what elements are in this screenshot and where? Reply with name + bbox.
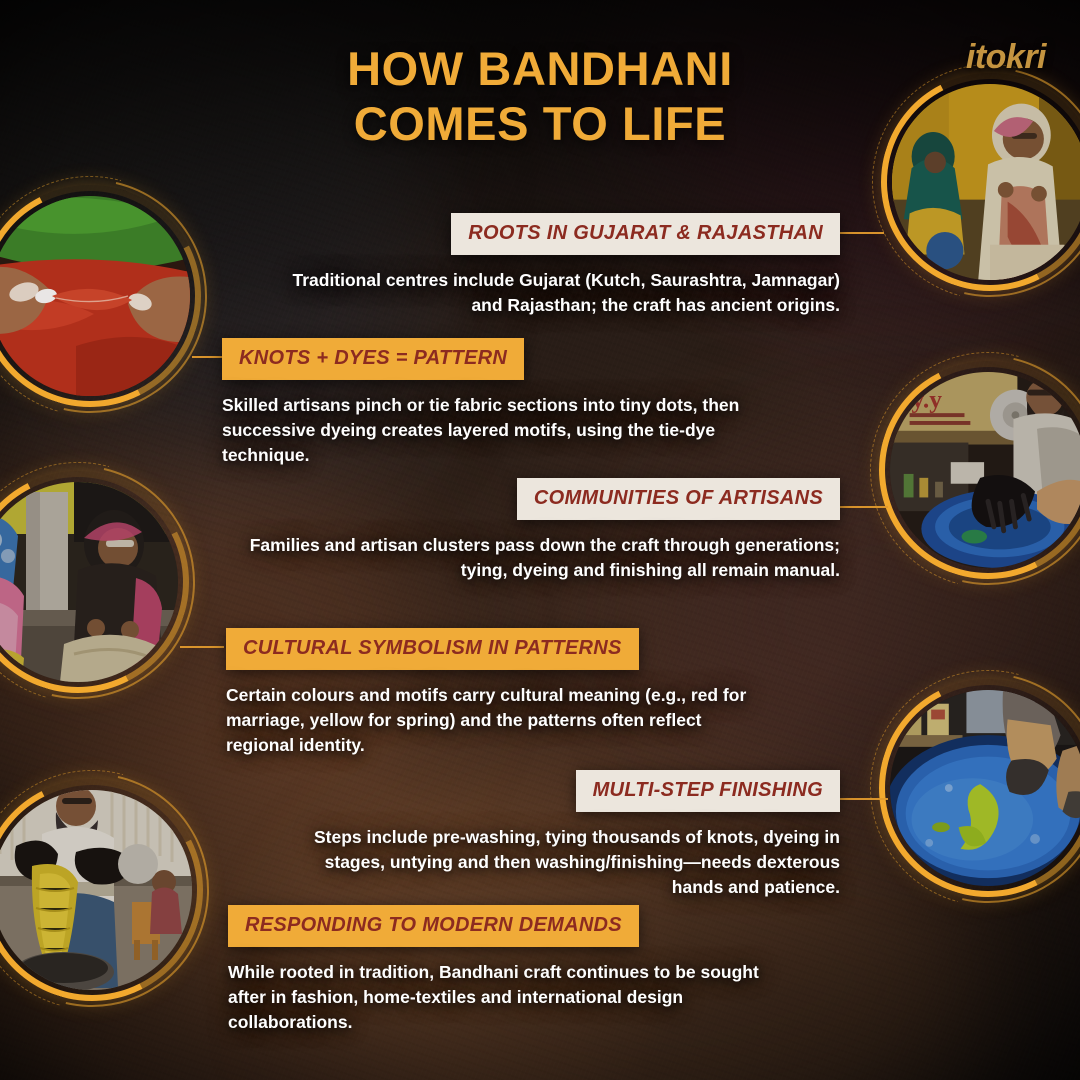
section-body-text: Skilled artisans pinch or tie fabric sec…: [222, 393, 752, 468]
section-roots-in-gujarat-and-rajasthan: ROOTS IN GUJARAT & RAJASTHAN Traditional…: [270, 213, 840, 318]
section-heading-banner[interactable]: MULTI-STEP FINISHING: [576, 770, 840, 812]
section-cultural-symbolism-in-patterns: CULTURAL SYMBOLISM IN PATTERNS Certain c…: [226, 628, 766, 758]
section-heading-banner[interactable]: RESPONDING TO MODERN DEMANDS: [228, 905, 639, 947]
connector-line: [180, 646, 224, 648]
two-women-tying-bandhani-photo: [892, 84, 1080, 280]
section-heading-banner[interactable]: KNOTS + DYES = PATTERN: [222, 338, 524, 380]
fabric-dipped-in-blue-dye-photo: [890, 690, 1080, 886]
section-body-text: Steps include pre-washing, tying thousan…: [300, 825, 840, 900]
section-body-text: Families and artisan clusters pass down …: [240, 533, 840, 583]
section-responding-to-modern-demands: RESPONDING TO MODERN DEMANDS While roote…: [228, 905, 788, 1035]
section-knots-dyes-pattern: KNOTS + DYES = PATTERN Skilled artisans …: [222, 338, 752, 468]
section-heading-banner[interactable]: CULTURAL SYMBOLISM IN PATTERNS: [226, 628, 639, 670]
artisan-dyeing-in-blue-tub-photo: y.y: [890, 372, 1080, 568]
hands-tying-red-fabric-photo: [0, 196, 190, 396]
section-heading-banner[interactable]: ROOTS IN GUJARAT & RAJASTHAN: [451, 213, 840, 255]
dyer-lifting-yellow-fabric-photo: [0, 790, 192, 990]
section-body-text: While rooted in tradition, Bandhani craf…: [228, 960, 788, 1035]
itokri-logo[interactable]: itokri: [966, 38, 1046, 77]
section-heading-banner[interactable]: COMMUNITIES OF ARTISANS: [517, 478, 840, 520]
section-communities-of-artisans: COMMUNITIES OF ARTISANS Families and art…: [240, 478, 840, 583]
woman-tying-knots-seated-photo: [0, 482, 178, 682]
section-body-text: Certain colours and motifs carry cultura…: [226, 683, 766, 758]
section-multi-step-finishing: MULTI-STEP FINISHING Steps include pre-w…: [300, 770, 840, 900]
section-body-text: Traditional centres include Gujarat (Kut…: [270, 268, 840, 318]
